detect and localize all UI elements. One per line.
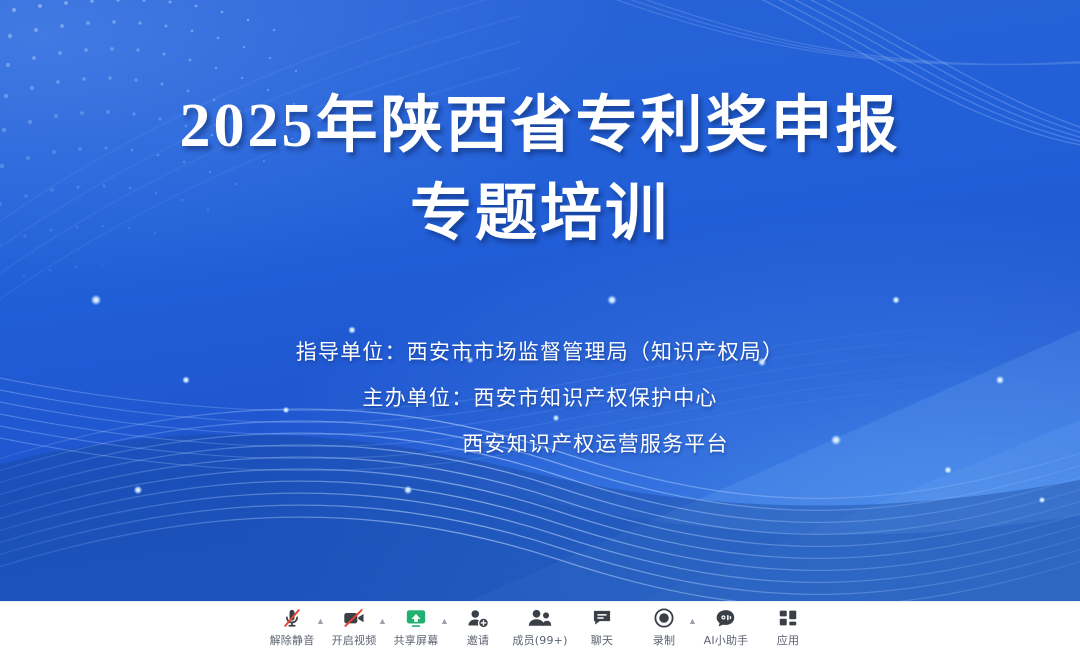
slide-body: 指导单位：西安市市场监督管理局（知识产权局） 主办单位：西安市知识产权保护中心 … — [0, 330, 1080, 467]
slide-body-line-3: 西安知识产权运营服务平台 — [0, 422, 1080, 468]
toolbar-label-video: 开启视频 — [332, 632, 377, 648]
members-icon — [527, 606, 553, 630]
meeting-screen-share-window: 2025年陕西省专利奖申报 专题培训 指导单位：西安市市场监督管理局（知识产权局… — [0, 0, 1080, 651]
shared-slide: 2025年陕西省专利奖申报 专题培训 指导单位：西安市市场监督管理局（知识产权局… — [0, 0, 1080, 601]
record-circle-icon — [653, 606, 675, 630]
toolbar-item-chat[interactable]: 聊天 — [571, 606, 633, 648]
slide-body-line-1: 指导单位：西安市市场监督管理局（知识产权局） — [0, 330, 1080, 376]
toolbar-item-video[interactable]: ▲ 开启视频 — [323, 606, 385, 648]
invite-person-icon — [466, 606, 490, 630]
toolbar-item-apps[interactable]: 应用 — [757, 606, 819, 648]
toolbar-item-mute[interactable]: ▲ 解除静音 — [261, 606, 323, 648]
apps-grid-icon — [777, 606, 799, 630]
ai-robot-icon — [714, 606, 738, 630]
chat-bubble-icon — [591, 606, 613, 630]
toolbar-item-share-screen[interactable]: ▲ 共享屏幕 — [385, 606, 447, 648]
toolbar-label-record: 录制 — [653, 632, 675, 648]
meeting-control-toolbar: ▲ 解除静音 ▲ 开启视频 — [0, 601, 1080, 651]
toolbar-label-ai-assistant: AI小助手 — [704, 632, 749, 648]
share-screen-icon — [404, 606, 428, 630]
toolbar-label-chat: 聊天 — [591, 632, 613, 648]
microphone-muted-icon — [281, 606, 303, 630]
toolbar-label-apps: 应用 — [777, 632, 799, 648]
camera-muted-icon — [342, 606, 366, 630]
toolbar-item-members[interactable]: 成员(99+) — [509, 606, 571, 648]
toolbar-label-mute: 解除静音 — [270, 632, 315, 648]
toolbar-item-invite[interactable]: 邀请 — [447, 606, 509, 648]
toolbar-items: ▲ 解除静音 ▲ 开启视频 — [261, 602, 819, 648]
toolbar-item-ai-assistant[interactable]: AI小助手 — [695, 606, 757, 648]
toolbar-label-invite: 邀请 — [467, 632, 489, 648]
slide-body-line-2: 主办单位：西安市知识产权保护中心 — [0, 376, 1080, 422]
dot-fan-decoration — [0, 0, 390, 310]
toolbar-label-share-screen: 共享屏幕 — [394, 632, 439, 648]
toolbar-label-members: 成员(99+) — [512, 632, 567, 648]
toolbar-item-record[interactable]: ▲ 录制 — [633, 606, 695, 648]
